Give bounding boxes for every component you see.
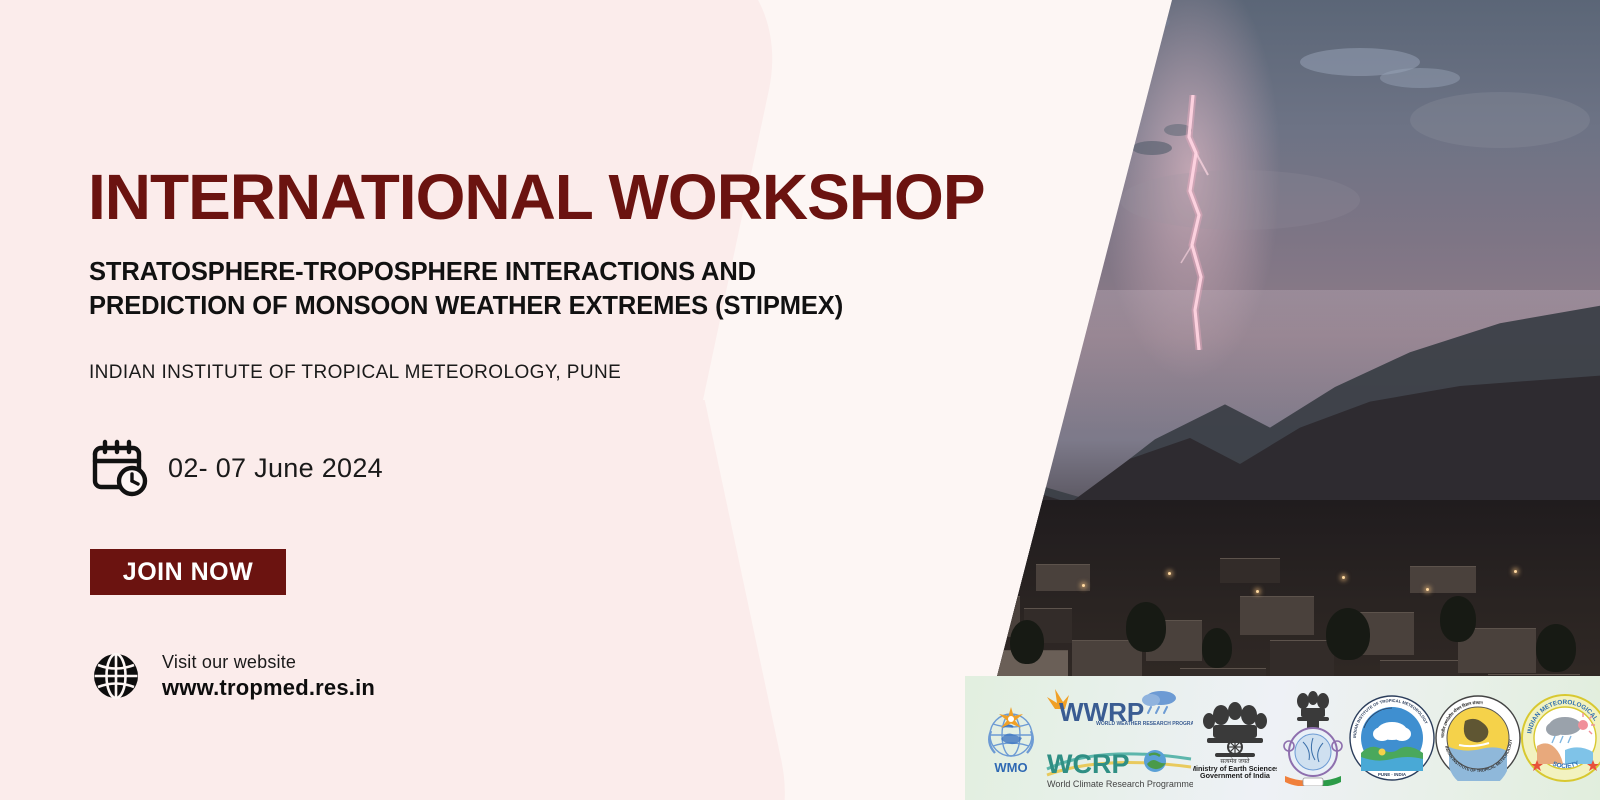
date-row: 02- 07 June 2024 xyxy=(88,437,383,499)
wwrp-logo: WWRP WORLD WEATHER RESEARCH PROGRAMME xyxy=(1043,685,1193,735)
event-banner: INTERNATIONAL WORKSHOP STRATOSPHERE-TROP… xyxy=(0,0,1600,800)
content-panel: INTERNATIONAL WORKSHOP STRATOSPHERE-TROP… xyxy=(0,0,1000,800)
moes-subtitle: Government of India xyxy=(1200,771,1271,779)
wmo-logo: WMO xyxy=(979,701,1043,775)
join-now-button[interactable]: JOIN NOW xyxy=(90,549,286,595)
website-row[interactable]: Visit our website www.tropmed.res.in xyxy=(90,650,375,702)
wcrp-caption: WCRP xyxy=(1047,749,1130,779)
subtitle-line-1: STRATOSPHERE-TROPOSPHERE INTERACTIONS AN… xyxy=(89,256,969,290)
sponsor-logo-strip: WMO WWRP WORLD WEATHER RESEARCH PROGRAMM… xyxy=(965,676,1600,800)
storm-clouds-icon xyxy=(940,0,1600,330)
page-title: INTERNATIONAL WORKSHOP xyxy=(88,165,985,229)
wwrp-subtitle: WORLD WEATHER RESEARCH PROGRAMME xyxy=(1096,721,1193,727)
imd-logo xyxy=(1277,690,1349,786)
venue-text: INDIAN INSTITUTE OF TROPICAL METEOROLOGY… xyxy=(89,362,621,384)
iitm-seal-logo: भारतीय उष्णदेशीय मौसम विज्ञान संस्थान IN… xyxy=(1435,695,1521,781)
ims-logo: INDIAN METEOROLOGICAL SOCIETY xyxy=(1521,694,1600,782)
wcrp-logo: WCRP World Climate Research Programme xyxy=(1043,739,1193,791)
moes-logo: सत्यमेव जयते Ministry of Earth Sciences … xyxy=(1193,697,1277,779)
calendar-clock-icon xyxy=(88,437,150,499)
wmo-caption: WMO xyxy=(994,760,1027,775)
lightning-bolt-icon xyxy=(1175,95,1215,350)
website-url[interactable]: www.tropmed.res.in xyxy=(162,675,375,701)
wcrp-subtitle: World Climate Research Programme xyxy=(1047,779,1193,789)
subtitle-line-2: PREDICTION OF MONSOON WEATHER EXTREMES (… xyxy=(89,290,969,324)
svg-text:PUNE · INDIA: PUNE · INDIA xyxy=(1378,772,1407,777)
website-label: Visit our website xyxy=(162,652,375,673)
iitm-logo: INDIAN INSTITUTE OF TROPICAL METEOROLOGY… xyxy=(1349,695,1435,781)
event-subtitle: STRATOSPHERE-TROPOSPHERE INTERACTIONS AN… xyxy=(89,256,969,324)
wwrp-wcrp-group: WWRP WORLD WEATHER RESEARCH PROGRAMME WC… xyxy=(1043,685,1193,791)
globe-icon xyxy=(90,650,142,702)
event-date: 02- 07 June 2024 xyxy=(168,453,383,484)
